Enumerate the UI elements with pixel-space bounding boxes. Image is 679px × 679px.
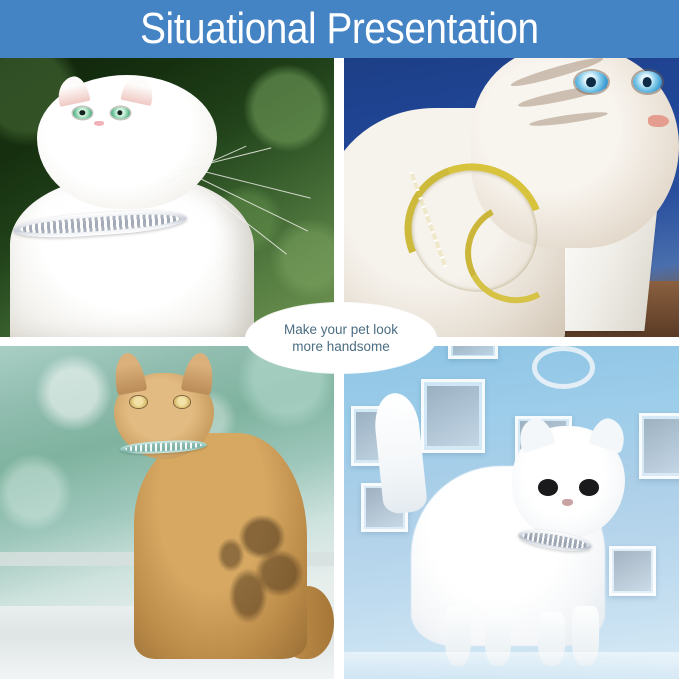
caption-bubble: Make your pet look more handsome [246, 303, 436, 373]
wall-picture-frame [639, 413, 679, 480]
cat-nose [648, 115, 669, 127]
cat-eye-left [73, 107, 92, 119]
cat-body [134, 433, 308, 659]
cat-ear-left [110, 350, 147, 395]
cat-eye-right [579, 479, 599, 496]
cat-nose [94, 121, 105, 126]
cat-eye-right [111, 107, 130, 119]
photo-top-left [0, 58, 334, 337]
photo-bottom-right-background [344, 346, 679, 679]
photo-top-right [344, 58, 679, 337]
ship-wheel-decor [532, 346, 596, 389]
wall-picture-frame [421, 379, 485, 452]
cat-pupil-left [586, 77, 596, 87]
cat-ear-right [121, 73, 157, 106]
wall-picture-frame [448, 346, 498, 359]
photo-bottom-right [344, 346, 679, 679]
cat-eye-left [575, 71, 608, 93]
cat-head [37, 75, 217, 209]
product-image-panel: Situational Presentation [0, 0, 679, 679]
photo-bottom-left [0, 346, 334, 679]
photo-top-right-background [344, 58, 679, 337]
photo-bottom-left-background [0, 346, 334, 679]
caption-text: Make your pet look more handsome [284, 321, 398, 355]
wall-picture-frame [609, 546, 656, 596]
cat-eye-left [130, 396, 147, 408]
cat-ear-left [54, 75, 90, 108]
cat-pupil-left [80, 110, 85, 116]
photo-top-left-background [0, 58, 334, 337]
page-title: Situational Presentation [140, 7, 538, 51]
floor-reflection [344, 652, 679, 679]
cat-eye-right [174, 396, 191, 408]
cat-face-stripe [529, 110, 608, 129]
cat-eye-right [633, 71, 662, 93]
header-banner: Situational Presentation [0, 0, 679, 58]
cat-pupil-right [117, 110, 122, 116]
cat-pupil-right [643, 77, 652, 87]
cat-ear-right [180, 350, 217, 395]
